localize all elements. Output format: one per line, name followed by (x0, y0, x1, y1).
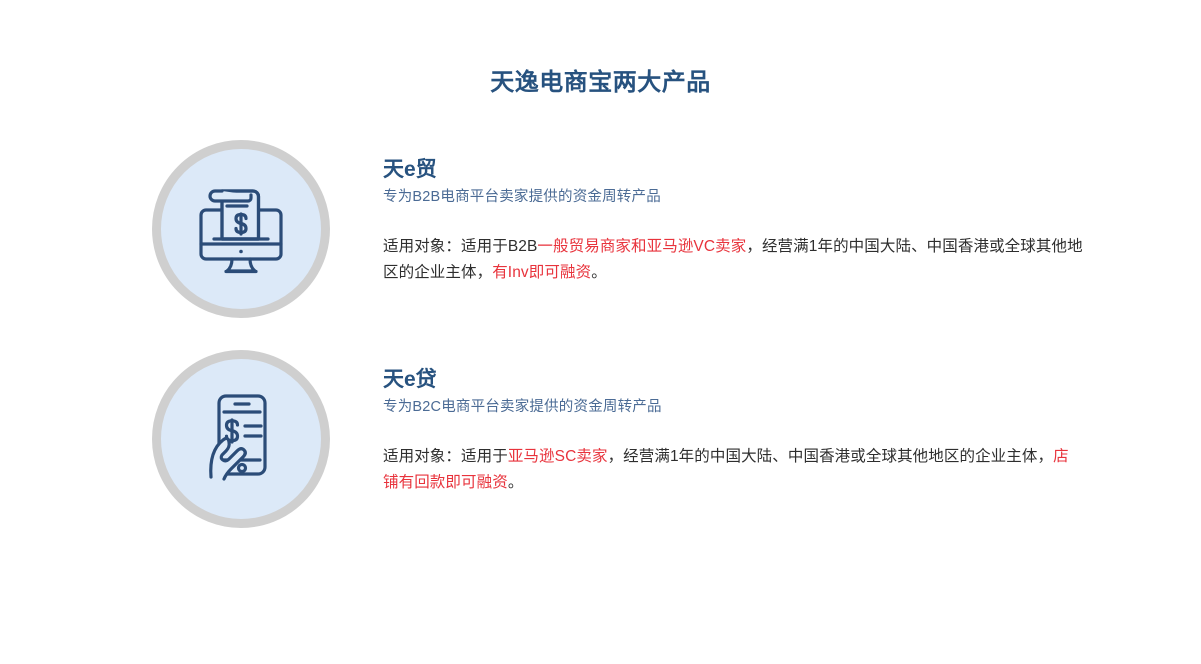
product-description: 适用对象：适用于B2B一般贸易商家和亚马逊VC卖家，经营满1年的中国大陆、中国香… (383, 234, 1083, 287)
product-name: 天e贸 (383, 157, 1083, 183)
product-row: 天e贸 专为B2B电商平台卖家提供的资金周转产品 适用对象：适用于B2B一般贸易… (0, 140, 1201, 318)
page-title: 天逸电商宝两大产品 (0, 62, 1201, 97)
product-subtitle: 专为B2B电商平台卖家提供的资金周转产品 (383, 187, 1083, 207)
product-subtitle: 专为B2C电商平台卖家提供的资金周转产品 (383, 397, 1083, 417)
product-icon-badge (152, 140, 330, 318)
plain-text: 适用于 (461, 448, 508, 465)
product-text: 天e贷 专为B2C电商平台卖家提供的资金周转产品 适用对象：适用于亚马逊SC卖家… (383, 350, 1083, 497)
highlighted-text: 亚马逊SC卖家 (508, 448, 608, 465)
desc-label: 适用对象： (383, 238, 461, 255)
plain-text: 适用于B2B (461, 238, 537, 255)
desc-body: 适用于B2B一般贸易商家和亚马逊VC卖家，经营满1年的中国大陆、中国香港或全球其… (383, 238, 1083, 282)
desc-body: 适用于亚马逊SC卖家，经营满1年的中国大陆、中国香港或全球其他地区的企业主体，店… (383, 448, 1069, 492)
highlighted-text: 一般贸易商家和亚马逊VC卖家 (537, 238, 746, 255)
product-text: 天e贸 专为B2B电商平台卖家提供的资金周转产品 适用对象：适用于B2B一般贸易… (383, 140, 1083, 287)
monitor-invoice-dollar-icon (189, 177, 293, 281)
hand-holding-phone-dollar-icon (189, 387, 293, 491)
plain-text: ，经营满1年的中国大陆、中国香港或全球其他地区的企业主体， (608, 448, 1054, 465)
highlighted-text: 有Inv即可融资 (492, 264, 591, 281)
product-name: 天e贷 (383, 367, 1083, 393)
product-description: 适用对象：适用于亚马逊SC卖家，经营满1年的中国大陆、中国香港或全球其他地区的企… (383, 444, 1083, 497)
desc-label: 适用对象： (383, 448, 461, 465)
plain-text: 。 (508, 474, 524, 491)
product-row: 天e贷 专为B2C电商平台卖家提供的资金周转产品 适用对象：适用于亚马逊SC卖家… (0, 350, 1201, 528)
product-icon-badge (152, 350, 330, 528)
plain-text: 。 (591, 264, 607, 281)
